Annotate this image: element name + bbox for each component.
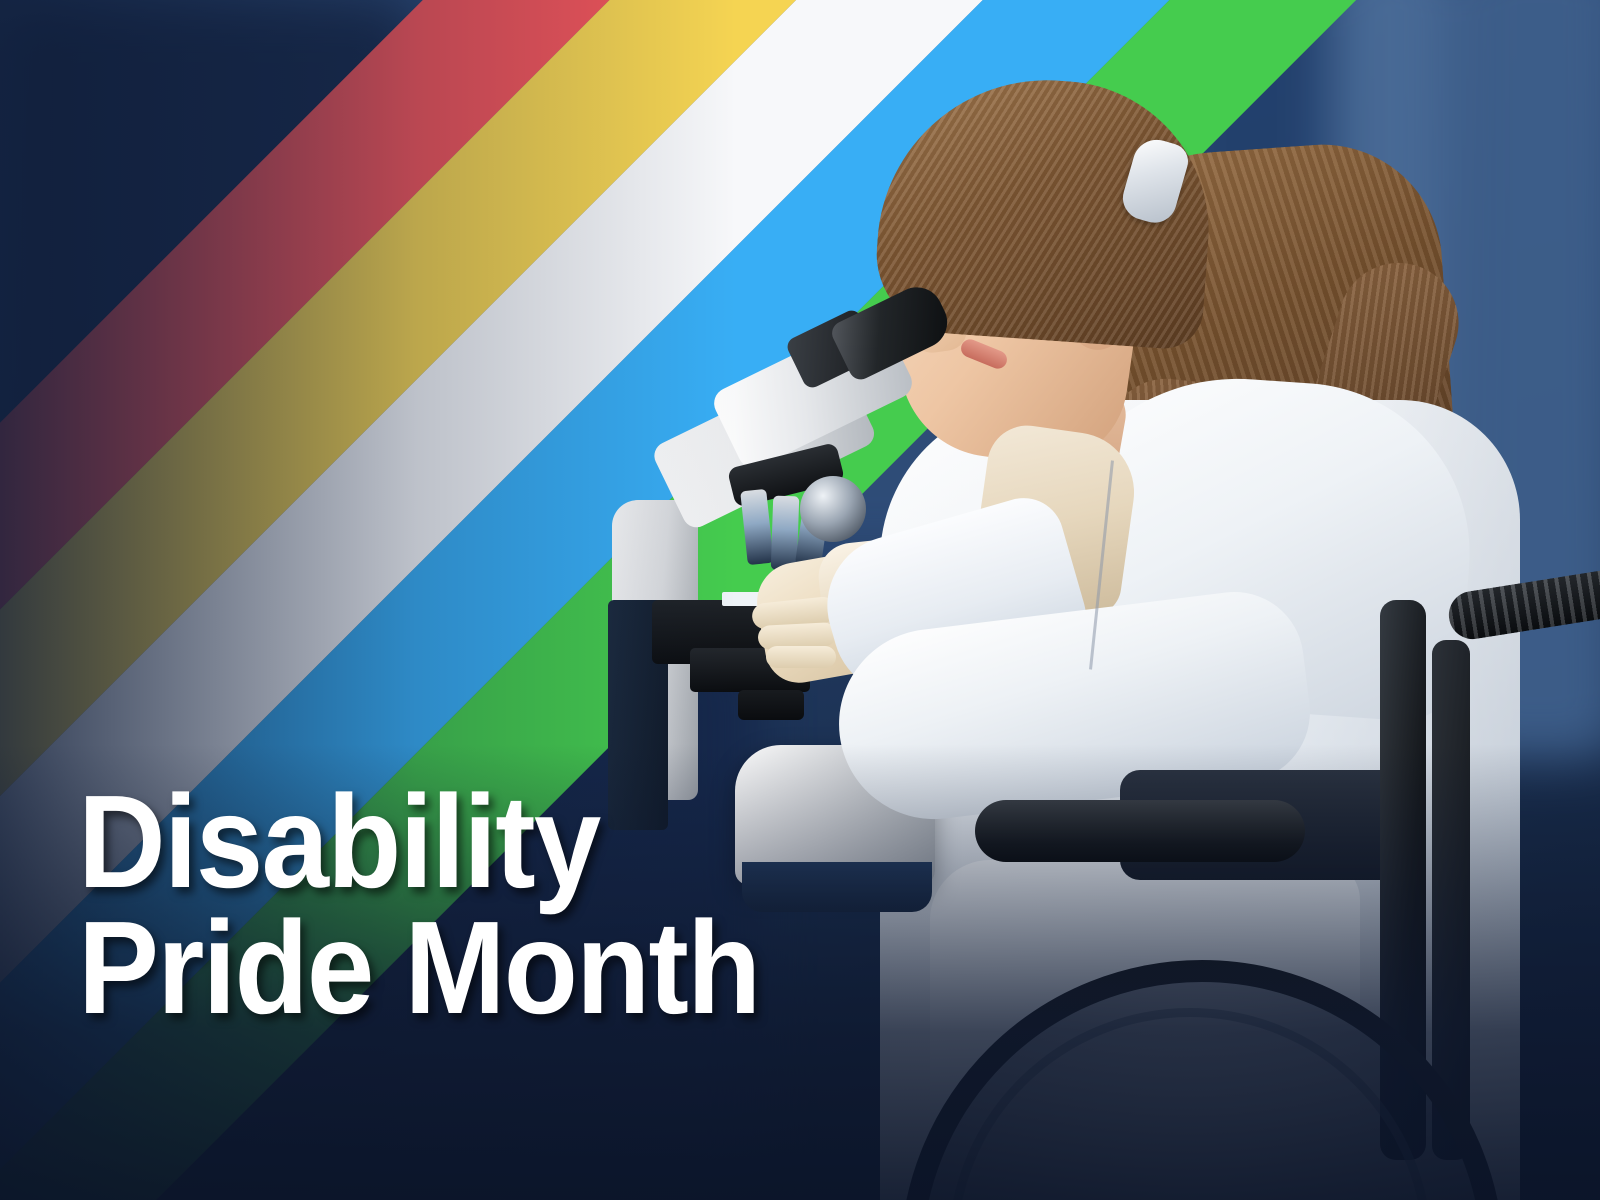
wheelchair-armrest	[975, 800, 1305, 862]
pride-month-banner: Disability Pride Month	[0, 0, 1600, 1200]
title-line-1: Disability	[78, 779, 759, 904]
title-line-2: Pride Month	[78, 905, 759, 1030]
page-title: Disability Pride Month	[78, 779, 819, 1030]
finger	[766, 646, 836, 668]
microscope-focus-knob	[800, 476, 866, 542]
microscope-condenser	[738, 690, 804, 720]
microscope-objective	[740, 489, 774, 565]
